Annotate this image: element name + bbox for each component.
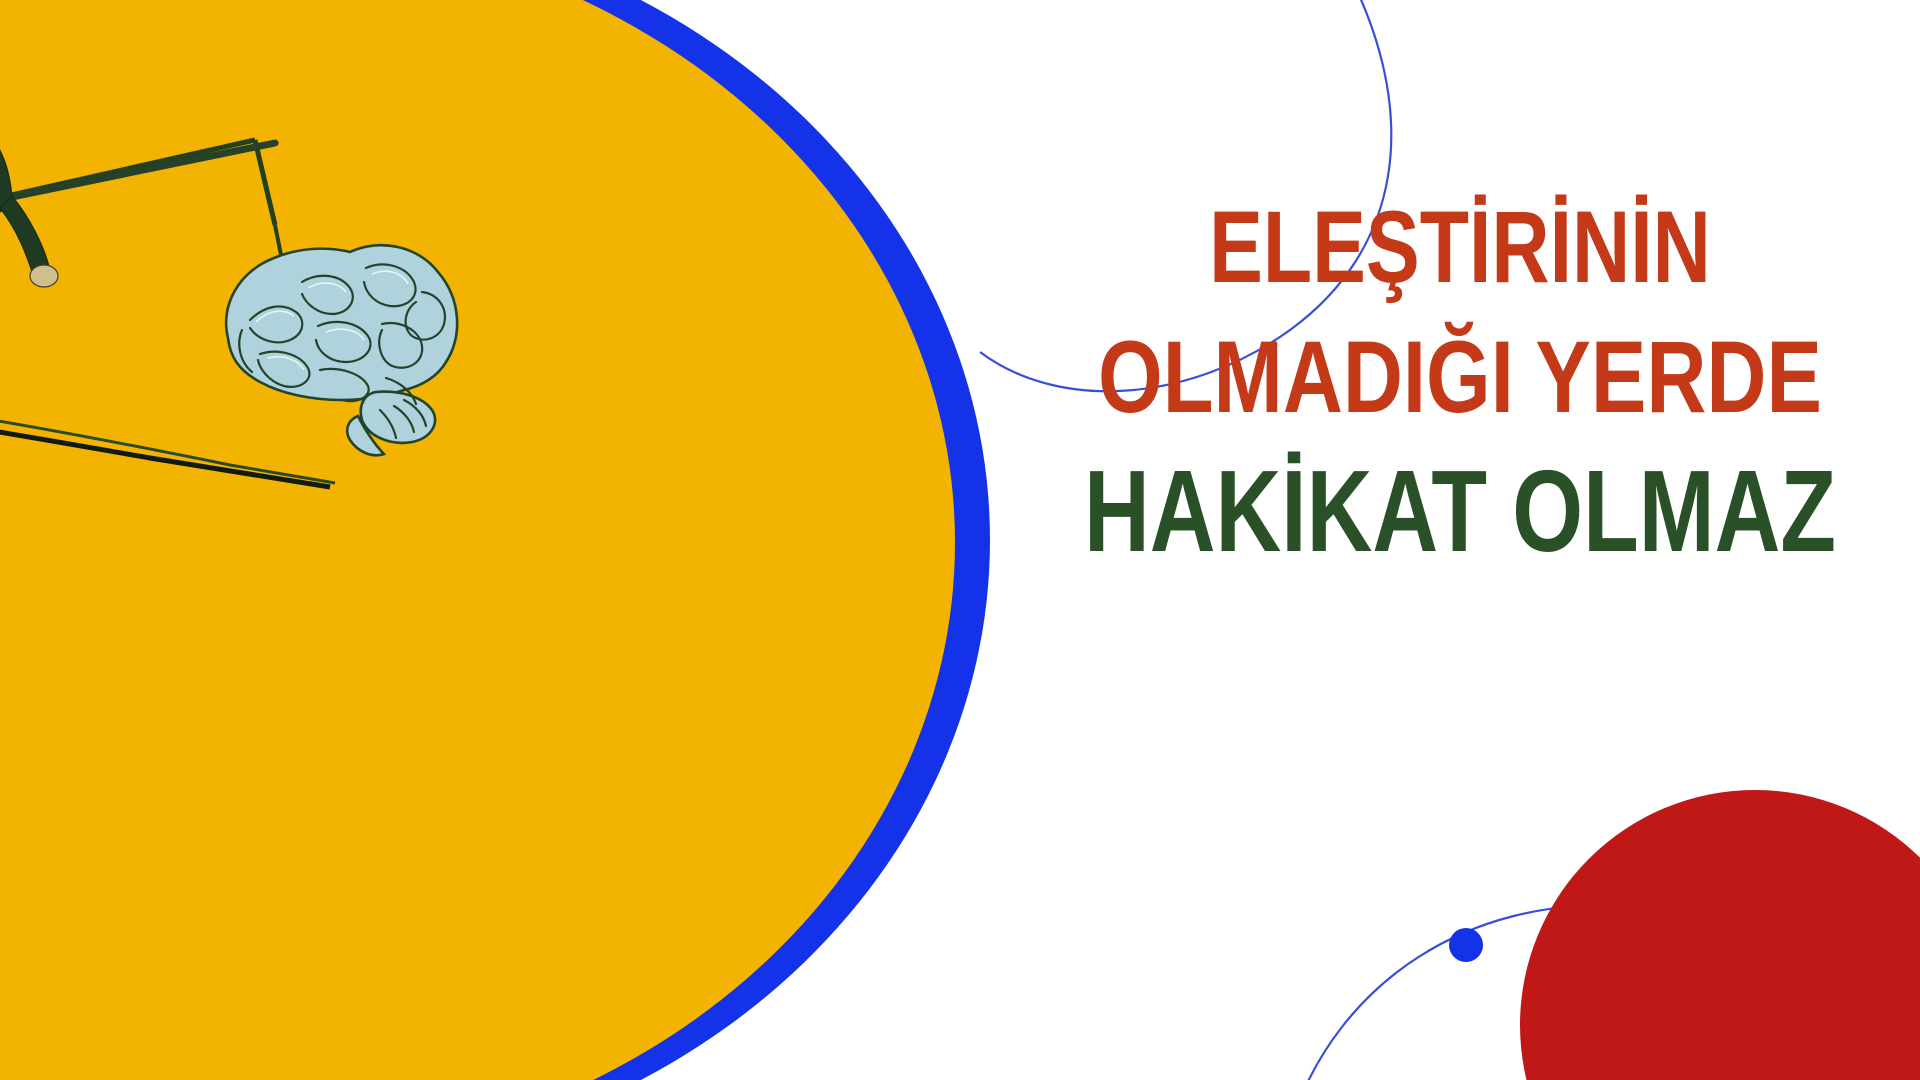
tightrope-walker-illustration	[0, 20, 90, 450]
headline-block: ELEŞTİRİNİN OLMADIĞI YERDE HAKİKAT OLMAZ	[1010, 205, 1910, 560]
artwork-stage	[0, 0, 1000, 1080]
blue-dot-accent	[1449, 928, 1483, 962]
brain-illustration	[190, 210, 480, 470]
headline-line-3: HAKİKAT OLMAZ	[1015, 454, 1906, 572]
headline-line-1: ELEŞTİRİNİN	[1028, 196, 1892, 301]
poster-canvas: ELEŞTİRİNİN OLMADIĞI YERDE HAKİKAT OLMAZ	[0, 0, 1920, 1080]
red-corner-circle	[1520, 790, 1920, 1080]
headline-line-2: OLMADIĞI YERDE	[1015, 325, 1906, 430]
